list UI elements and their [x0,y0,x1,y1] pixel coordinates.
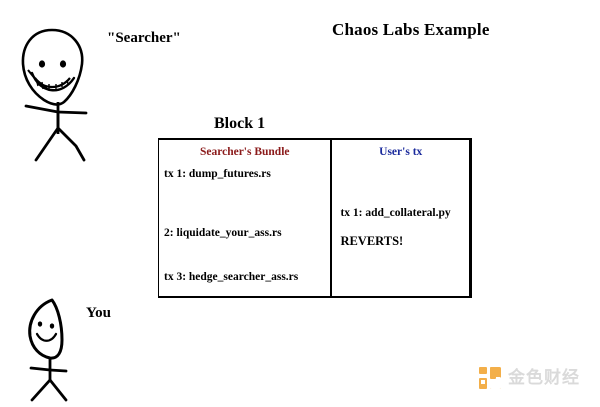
tx-row: tx 1: dump_futures.rs [164,169,271,181]
wojak-grinning-stick-figure-icon [14,24,114,164]
block-column-users-tx: User's tx tx 1: add_collateral.py REVERT… [332,140,469,296]
watermark-text: 金色财经 [508,370,580,387]
column-header-users-tx: User's tx [332,147,469,159]
block-label: Block 1 [214,116,265,132]
tx-row: tx 3: hedge_searcher_ass.rs [164,272,298,284]
page-title: Chaos Labs Example [332,21,490,38]
column-header-searchers-bundle: Searcher's Bundle [159,147,330,159]
block-table: Searcher's Bundle tx 1: dump_futures.rs … [158,138,472,298]
you-label: You [86,306,111,321]
tx-row: tx 1: add_collateral.py [340,208,450,220]
searcher-label: "Searcher" [107,31,181,46]
searcher-figure [14,24,114,164]
tx-row: 2: liquidate_your_ass.rs [164,228,282,240]
jinse-logo-icon [478,366,502,390]
diagram-canvas: Chaos Labs Example "Searcher" [0,0,600,406]
watermark: 金色财经 [478,362,590,394]
block-column-searchers-bundle: Searcher's Bundle tx 1: dump_futures.rs … [159,140,332,296]
tx-status-reverts: REVERTS! [340,235,403,248]
